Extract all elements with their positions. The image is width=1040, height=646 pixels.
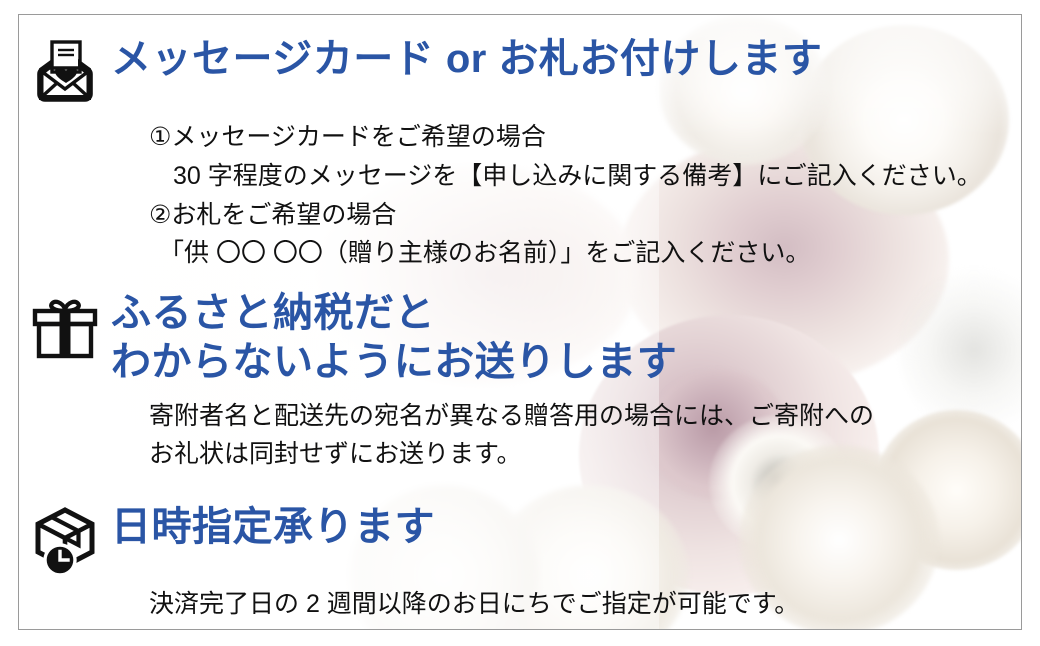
section-delivery-date: 日時指定承ります 決済完了日の 2 週間以降のお日にちでご指定が可能です。 (19, 501, 1022, 624)
body-line: 30 字程度のメッセージを【申し込みに関する備考】にご記入ください。 (149, 157, 1003, 196)
gift-box-icon (19, 287, 111, 363)
section-message-card-body: ①メッセージカードをご希望の場合 30 字程度のメッセージを【申し込みに関する備… (19, 109, 1022, 273)
section-delivery-date-body: 決済完了日の 2 週間以降のお日にちでご指定が可能です。 (19, 577, 1022, 624)
info-card: メッセージカード or お札お付けします ①メッセージカードをご希望の場合 30… (18, 14, 1022, 630)
section-discreet-delivery-body: 寄附者名と配送先の宛名が異なる贈答用の場合には、ご寄附への お礼状は同封せずにお… (19, 387, 1022, 475)
screenshot-canvas: メッセージカード or お札お付けします ①メッセージカードをご希望の場合 30… (0, 0, 1040, 646)
package-clock-icon (19, 501, 111, 577)
section-discreet-delivery-header: ふるさと納税だと わからないようにお送りします (19, 287, 1022, 387)
body-line: 「供 〇〇 〇〇（贈り主様のお名前）」をご記入ください。 (149, 234, 1003, 273)
card-content: メッセージカード or お札お付けします ①メッセージカードをご希望の場合 30… (19, 15, 1021, 629)
body-line: ②お札をご希望の場合 (149, 196, 1003, 235)
body-line: ①メッセージカードをご希望の場合 (149, 118, 1003, 157)
section-delivery-date-header: 日時指定承ります (19, 501, 1022, 577)
body-line: お礼状は同封せずにお送ります。 (149, 435, 1003, 474)
section-message-card-heading: メッセージカード or お札お付けします (111, 33, 822, 84)
section-message-card: メッセージカード or お札お付けします ①メッセージカードをご希望の場合 30… (19, 33, 1022, 273)
section-message-card-header: メッセージカード or お札お付けします (19, 33, 1022, 109)
envelope-heart-icon (19, 33, 111, 109)
section-discreet-delivery: ふるさと納税だと わからないようにお送りします 寄附者名と配送先の宛名が異なる贈… (19, 287, 1022, 474)
section-discreet-delivery-heading: ふるさと納税だと わからないようにお送りします (111, 287, 677, 387)
body-line: 決済完了日の 2 週間以降のお日にちでご指定が可能です。 (149, 585, 1003, 624)
body-line: 寄附者名と配送先の宛名が異なる贈答用の場合には、ご寄附への (149, 397, 1003, 436)
section-delivery-date-heading: 日時指定承ります (111, 501, 435, 552)
